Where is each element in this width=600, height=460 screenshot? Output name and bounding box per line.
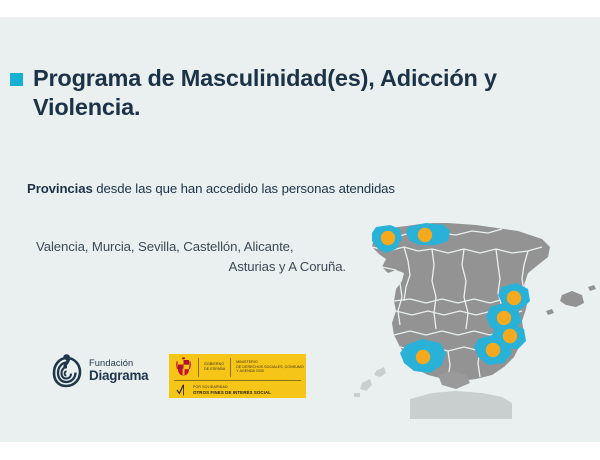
square-bullet-icon	[10, 73, 23, 86]
solidaridad-line-1: POR SOLIDARIDAD	[193, 385, 271, 389]
marker-castellon	[507, 291, 521, 305]
subtitle-bold-lead: Provincias	[27, 181, 93, 196]
balearic-islands	[546, 285, 596, 315]
gobierno-logo-top-row: GOBIERNO DE ESPAÑA MINISTERIO DE DERECHO…	[169, 354, 306, 380]
marker-asturias	[418, 228, 432, 242]
subtitle-rest: desde las que han accedido las personas …	[93, 181, 395, 196]
diagrama-line-2: Diagrama	[89, 369, 148, 382]
ministerio-divider	[230, 358, 231, 377]
province-list-line-2: Asturias y A Coruña.	[36, 257, 346, 277]
marker-a-coruna	[381, 231, 395, 245]
spain-map	[352, 207, 600, 419]
solidaridad-text: POR SOLIDARIDAD OTROS FINES DE INTERÉS S…	[193, 385, 271, 395]
title-text: Programa de Masculinidad(es), Adicción y…	[33, 64, 563, 123]
x-tax-check-icon	[176, 384, 187, 396]
diagrama-spiral-icon	[52, 354, 83, 388]
province-list-text: Valencia, Murcia, Sevilla, Castellón, Al…	[36, 237, 346, 278]
north-africa	[410, 371, 512, 419]
marker-alicante	[503, 329, 517, 343]
gobierno-logo-bottom-row: POR SOLIDARIDAD OTROS FINES DE INTERÉS S…	[169, 381, 306, 398]
marker-sevilla	[416, 350, 430, 364]
gobierno-divider	[198, 358, 199, 377]
spain-map-svg	[352, 207, 600, 419]
slide-canvas: Programa de Masculinidad(es), Adicción y…	[0, 17, 600, 442]
page-title: Programa de Masculinidad(es), Adicción y…	[10, 64, 580, 123]
spain-coat-of-arms-icon	[174, 357, 193, 377]
canary-islands	[354, 367, 386, 397]
solidaridad-line-2: OTROS FINES DE INTERÉS SOCIAL	[193, 390, 271, 395]
province-list-line-1: Valencia, Murcia, Sevilla, Castellón, Al…	[36, 237, 346, 257]
ministerio-text: MINISTERIO DE DERECHOS SOCIALES, CONSUMO…	[236, 360, 304, 375]
gobierno-de-espana-logo: GOBIERNO DE ESPAÑA MINISTERIO DE DERECHO…	[169, 354, 306, 398]
gobierno-text-line-2: DE ESPAÑA	[204, 367, 225, 372]
diagrama-line-1: Fundación	[89, 359, 148, 368]
diagrama-wordmark: Fundación Diagrama	[89, 359, 148, 383]
gobierno-text: GOBIERNO DE ESPAÑA	[204, 362, 225, 372]
marker-valencia	[497, 311, 511, 325]
map-base-regions	[354, 223, 596, 419]
ministerio-line-3: Y AGENDA 2030	[236, 369, 304, 374]
marker-murcia	[486, 343, 500, 357]
subtitle: Provincias desde las que han accedido la…	[27, 181, 395, 196]
fundacion-diagrama-logo: Fundación Diagrama	[52, 354, 148, 388]
